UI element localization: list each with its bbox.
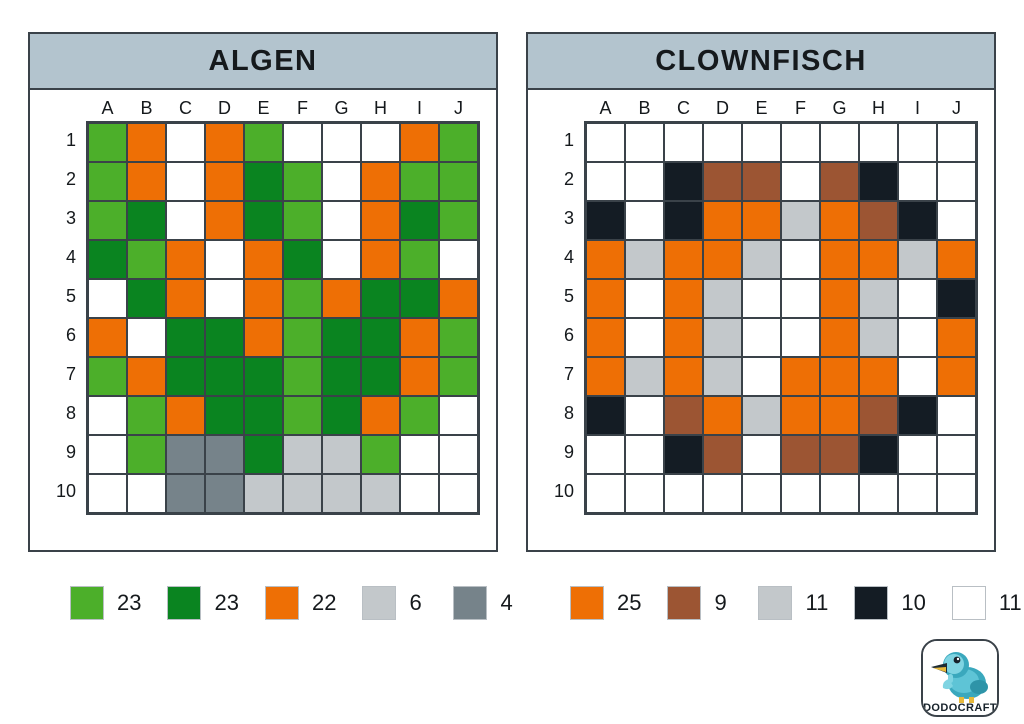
- grid-cell[interactable]: [400, 201, 439, 240]
- grid-cell[interactable]: [781, 162, 820, 201]
- legend-count: 22: [312, 590, 336, 616]
- grid-cell[interactable]: [127, 396, 166, 435]
- grid-cell[interactable]: [859, 435, 898, 474]
- svg-text:DODOCRAFT: DODOCRAFT: [923, 702, 997, 714]
- pixel-grid-clownfisch[interactable]: [584, 121, 978, 515]
- grid-cell[interactable]: [88, 474, 127, 513]
- grid-cell[interactable]: [166, 201, 205, 240]
- grid-cell[interactable]: [322, 162, 361, 201]
- grid-cell[interactable]: [127, 162, 166, 201]
- grid-cell[interactable]: [244, 201, 283, 240]
- dodocraft-logo: DODOCRAFT: [921, 639, 999, 717]
- grid-cell[interactable]: [322, 201, 361, 240]
- grid-body-algen: 12345678910: [46, 121, 480, 515]
- grid-cell[interactable]: [400, 396, 439, 435]
- legend-item: 25: [570, 586, 641, 620]
- grid-cell[interactable]: [742, 474, 781, 513]
- grid-cell[interactable]: [586, 162, 625, 201]
- column-header-c: C: [166, 98, 205, 119]
- grid-cell[interactable]: [205, 279, 244, 318]
- grid-cell[interactable]: [361, 162, 400, 201]
- grid-cell[interactable]: [322, 123, 361, 162]
- grid-cell[interactable]: [859, 318, 898, 357]
- legend-swatch-light-green: [70, 586, 104, 620]
- legend-item: 23: [167, 586, 238, 620]
- row-labels-algen: 12345678910: [46, 121, 86, 515]
- grid-cell[interactable]: [664, 201, 703, 240]
- grid-cell[interactable]: [127, 435, 166, 474]
- grid-cell[interactable]: [283, 318, 322, 357]
- grid-cell[interactable]: [664, 474, 703, 513]
- grid-cell[interactable]: [166, 396, 205, 435]
- grid-cell[interactable]: [205, 318, 244, 357]
- grid-cell[interactable]: [937, 357, 976, 396]
- grid-cell[interactable]: [166, 357, 205, 396]
- grid-cell[interactable]: [205, 162, 244, 201]
- grid-cell[interactable]: [361, 201, 400, 240]
- grid-cell[interactable]: [703, 279, 742, 318]
- grid-cell[interactable]: [937, 123, 976, 162]
- legend-count: 11: [999, 590, 1022, 616]
- grid-cell[interactable]: [244, 162, 283, 201]
- grid-cell[interactable]: [859, 123, 898, 162]
- grid-cell[interactable]: [586, 318, 625, 357]
- grid-cell[interactable]: [742, 162, 781, 201]
- legend-count: 23: [117, 590, 141, 616]
- grid-cell[interactable]: [664, 123, 703, 162]
- legend-item: 4: [453, 586, 518, 620]
- column-header-a: A: [88, 98, 127, 119]
- grid-cell[interactable]: [361, 318, 400, 357]
- grid-cell[interactable]: [859, 474, 898, 513]
- grid-cell[interactable]: [322, 318, 361, 357]
- grid-cell[interactable]: [898, 162, 937, 201]
- grid-cell[interactable]: [859, 357, 898, 396]
- grid-cell[interactable]: [244, 357, 283, 396]
- grid-cell[interactable]: [205, 435, 244, 474]
- grid-cell[interactable]: [205, 474, 244, 513]
- grid-cell[interactable]: [781, 201, 820, 240]
- grid-cell[interactable]: [439, 474, 478, 513]
- grid-cell[interactable]: [127, 318, 166, 357]
- legend-count: 4: [500, 590, 518, 616]
- grid-cell[interactable]: [703, 474, 742, 513]
- grid-cell[interactable]: [244, 318, 283, 357]
- grid-cell[interactable]: [703, 123, 742, 162]
- grid-cell[interactable]: [88, 357, 127, 396]
- grid-cell[interactable]: [127, 240, 166, 279]
- grid-cell[interactable]: [586, 279, 625, 318]
- column-header-i: I: [400, 98, 439, 119]
- grid-cell[interactable]: [127, 474, 166, 513]
- grid-cell[interactable]: [244, 240, 283, 279]
- legend-swatch-brown: [667, 586, 701, 620]
- column-header-c: C: [664, 98, 703, 119]
- grid-cell[interactable]: [88, 435, 127, 474]
- grid-area-clownfisch: ABCDEFGHIJ 12345678910: [528, 90, 994, 515]
- row-label-1: 1: [46, 121, 86, 160]
- grid-cell[interactable]: [625, 279, 664, 318]
- grid-cell[interactable]: [625, 357, 664, 396]
- grid-body-clownfisch: 12345678910: [544, 121, 978, 515]
- grid-cell[interactable]: [625, 201, 664, 240]
- grid-cell[interactable]: [781, 435, 820, 474]
- grid-cell[interactable]: [439, 123, 478, 162]
- row-label-2: 2: [46, 160, 86, 199]
- grid-cell[interactable]: [322, 474, 361, 513]
- grid-cell[interactable]: [742, 396, 781, 435]
- grid-cell[interactable]: [937, 162, 976, 201]
- row-label-10: 10: [46, 472, 86, 511]
- row-label-6: 6: [46, 316, 86, 355]
- grid-cell[interactable]: [586, 435, 625, 474]
- grid-cell[interactable]: [664, 396, 703, 435]
- grid-cell[interactable]: [898, 201, 937, 240]
- grid-cell[interactable]: [166, 240, 205, 279]
- legend-swatch-light-gray: [758, 586, 792, 620]
- grid-cell[interactable]: [664, 435, 703, 474]
- legend-swatch-white: [952, 586, 986, 620]
- grid-cell[interactable]: [586, 474, 625, 513]
- grid-cell[interactable]: [859, 162, 898, 201]
- grid-cell[interactable]: [400, 123, 439, 162]
- grid-cell[interactable]: [742, 123, 781, 162]
- panel-title-algen: ALGEN: [209, 45, 318, 78]
- grid-cell[interactable]: [361, 357, 400, 396]
- row-label-10: 10: [544, 472, 584, 511]
- legend-swatch-light-gray: [362, 586, 396, 620]
- column-header-j: J: [937, 98, 976, 119]
- grid-cell[interactable]: [439, 435, 478, 474]
- grid-cell[interactable]: [820, 279, 859, 318]
- grid-cell[interactable]: [166, 279, 205, 318]
- legend-item: 6: [362, 586, 427, 620]
- grid-cell[interactable]: [361, 123, 400, 162]
- grid-cell[interactable]: [703, 435, 742, 474]
- grid-cell[interactable]: [664, 318, 703, 357]
- row-label-1: 1: [544, 121, 584, 160]
- column-header-e: E: [742, 98, 781, 119]
- grid-cell[interactable]: [283, 201, 322, 240]
- panel-clownfisch: CLOWNFISCH ABCDEFGHIJ 12345678910: [526, 32, 996, 552]
- grid-cell[interactable]: [625, 435, 664, 474]
- grid-cell[interactable]: [586, 123, 625, 162]
- legend-count: 25: [617, 590, 641, 616]
- grid-cell[interactable]: [361, 435, 400, 474]
- row-label-4: 4: [544, 238, 584, 277]
- panel-title-clownfisch: CLOWNFISCH: [655, 45, 867, 78]
- grid-cell[interactable]: [625, 240, 664, 279]
- grid-cell[interactable]: [937, 240, 976, 279]
- column-header-a: A: [586, 98, 625, 119]
- grid-cell[interactable]: [820, 357, 859, 396]
- row-label-3: 3: [46, 199, 86, 238]
- legend-item: 22: [265, 586, 336, 620]
- grid-cell[interactable]: [586, 357, 625, 396]
- grid-cell[interactable]: [742, 357, 781, 396]
- grid-cell[interactable]: [244, 123, 283, 162]
- grid-cell[interactable]: [625, 123, 664, 162]
- column-header-e: E: [244, 98, 283, 119]
- row-label-9: 9: [544, 433, 584, 472]
- grid-cell[interactable]: [820, 318, 859, 357]
- grid-cell[interactable]: [439, 240, 478, 279]
- row-labels-clownfisch: 12345678910: [544, 121, 584, 515]
- grid-cell[interactable]: [820, 435, 859, 474]
- grid-cell[interactable]: [586, 396, 625, 435]
- column-header-j: J: [439, 98, 478, 119]
- grid-cell[interactable]: [898, 240, 937, 279]
- dodo-bird-icon: DODOCRAFT: [923, 641, 997, 715]
- grid-cell[interactable]: [898, 318, 937, 357]
- grid-cell[interactable]: [88, 396, 127, 435]
- grid-cell[interactable]: [664, 240, 703, 279]
- column-header-g: G: [322, 98, 361, 119]
- legend-swatch-orange: [570, 586, 604, 620]
- legend-swatch-dark-gray: [453, 586, 487, 620]
- grid-cell[interactable]: [703, 201, 742, 240]
- grid-cell[interactable]: [400, 435, 439, 474]
- column-header-f: F: [283, 98, 322, 119]
- row-label-8: 8: [46, 394, 86, 433]
- grid-cell[interactable]: [664, 162, 703, 201]
- column-header-b: B: [127, 98, 166, 119]
- panel-header-algen: ALGEN: [30, 34, 496, 90]
- row-label-2: 2: [544, 160, 584, 199]
- row-label-3: 3: [544, 199, 584, 238]
- column-header-b: B: [625, 98, 664, 119]
- grid-cell[interactable]: [742, 240, 781, 279]
- grid-cell[interactable]: [898, 474, 937, 513]
- row-label-9: 9: [46, 433, 86, 472]
- column-header-h: H: [361, 98, 400, 119]
- row-label-4: 4: [46, 238, 86, 277]
- grid-cell[interactable]: [859, 396, 898, 435]
- grid-cell[interactable]: [781, 123, 820, 162]
- legend-count: 6: [409, 590, 427, 616]
- grid-cell[interactable]: [742, 279, 781, 318]
- grid-cell[interactable]: [439, 201, 478, 240]
- grid-cell[interactable]: [898, 279, 937, 318]
- column-header-h: H: [859, 98, 898, 119]
- grid-cell[interactable]: [859, 201, 898, 240]
- grid-cell[interactable]: [781, 474, 820, 513]
- grid-cell[interactable]: [166, 474, 205, 513]
- grid-cell[interactable]: [937, 474, 976, 513]
- grid-cell[interactable]: [283, 123, 322, 162]
- grid-cell[interactable]: [205, 123, 244, 162]
- grid-cell[interactable]: [937, 318, 976, 357]
- grid-cell[interactable]: [439, 162, 478, 201]
- pixel-grid-algen[interactable]: [86, 121, 480, 515]
- grid-cell[interactable]: [283, 435, 322, 474]
- puzzle-page: ALGEN ABCDEFGHIJ 12345678910 CLOWNFISCH …: [0, 0, 1024, 724]
- grid-cell[interactable]: [439, 396, 478, 435]
- grid-cell[interactable]: [820, 123, 859, 162]
- grid-cell[interactable]: [322, 396, 361, 435]
- grid-cell[interactable]: [586, 240, 625, 279]
- grid-cell[interactable]: [400, 357, 439, 396]
- grid-cell[interactable]: [937, 201, 976, 240]
- grid-cell[interactable]: [88, 279, 127, 318]
- grid-cell[interactable]: [205, 240, 244, 279]
- grid-cell[interactable]: [859, 279, 898, 318]
- grid-cell[interactable]: [244, 279, 283, 318]
- grid-cell[interactable]: [244, 435, 283, 474]
- grid-cell[interactable]: [820, 474, 859, 513]
- grid-cell[interactable]: [166, 435, 205, 474]
- legend-count: 9: [714, 590, 732, 616]
- grid-cell[interactable]: [127, 279, 166, 318]
- grid-cell[interactable]: [127, 201, 166, 240]
- grid-cell[interactable]: [703, 396, 742, 435]
- grid-cell[interactable]: [439, 318, 478, 357]
- grid-cell[interactable]: [322, 357, 361, 396]
- grid-cell[interactable]: [400, 279, 439, 318]
- grid-cell[interactable]: [781, 240, 820, 279]
- column-header-d: D: [703, 98, 742, 119]
- grid-cell[interactable]: [781, 357, 820, 396]
- grid-cell[interactable]: [166, 162, 205, 201]
- grid-cell[interactable]: [586, 201, 625, 240]
- grid-cell[interactable]: [361, 279, 400, 318]
- grid-cell[interactable]: [781, 318, 820, 357]
- grid-cell[interactable]: [742, 201, 781, 240]
- grid-cell[interactable]: [166, 318, 205, 357]
- legend-item: 11: [758, 586, 828, 620]
- panel-algen: ALGEN ABCDEFGHIJ 12345678910: [28, 32, 498, 552]
- legend-item: 11: [952, 586, 1022, 620]
- row-label-7: 7: [46, 355, 86, 394]
- grid-cell[interactable]: [625, 162, 664, 201]
- grid-cell[interactable]: [820, 162, 859, 201]
- legend-swatch-orange: [265, 586, 299, 620]
- grid-cell[interactable]: [664, 357, 703, 396]
- grid-cell[interactable]: [742, 435, 781, 474]
- legend-count: 23: [214, 590, 238, 616]
- grid-cell[interactable]: [283, 240, 322, 279]
- grid-cell[interactable]: [205, 201, 244, 240]
- grid-cell[interactable]: [625, 318, 664, 357]
- grid-cell[interactable]: [283, 279, 322, 318]
- legend-clownfisch: 259111011: [570, 585, 1024, 621]
- grid-cell[interactable]: [88, 318, 127, 357]
- grid-cell[interactable]: [898, 396, 937, 435]
- grid-cell[interactable]: [781, 279, 820, 318]
- grid-cell[interactable]: [625, 474, 664, 513]
- legend-algen: 23232264: [70, 585, 544, 621]
- grid-cell[interactable]: [400, 474, 439, 513]
- grid-cell[interactable]: [283, 162, 322, 201]
- grid-cell[interactable]: [937, 279, 976, 318]
- grid-cell[interactable]: [937, 435, 976, 474]
- legend-item: 23: [70, 586, 141, 620]
- grid-cell[interactable]: [361, 474, 400, 513]
- grid-cell[interactable]: [88, 240, 127, 279]
- grid-cell[interactable]: [166, 123, 205, 162]
- grid-cell[interactable]: [742, 318, 781, 357]
- grid-cell[interactable]: [400, 162, 439, 201]
- grid-cell[interactable]: [400, 318, 439, 357]
- grid-cell[interactable]: [703, 318, 742, 357]
- grid-cell[interactable]: [781, 396, 820, 435]
- column-headers-clownfisch: ABCDEFGHIJ: [586, 98, 976, 119]
- grid-cell[interactable]: [88, 123, 127, 162]
- grid-cell[interactable]: [283, 357, 322, 396]
- legend-swatch-dark-green: [167, 586, 201, 620]
- grid-cell[interactable]: [361, 240, 400, 279]
- grid-cell[interactable]: [898, 357, 937, 396]
- row-label-6: 6: [544, 316, 584, 355]
- column-header-g: G: [820, 98, 859, 119]
- legend-swatch-navy: [854, 586, 888, 620]
- grid-cell[interactable]: [820, 396, 859, 435]
- grid-cell[interactable]: [283, 396, 322, 435]
- grid-cell[interactable]: [283, 474, 322, 513]
- grid-cell[interactable]: [127, 123, 166, 162]
- grid-cell[interactable]: [625, 396, 664, 435]
- column-headers-algen: ABCDEFGHIJ: [88, 98, 478, 119]
- legend-count: 10: [901, 590, 925, 616]
- grid-cell[interactable]: [322, 279, 361, 318]
- grid-cell[interactable]: [820, 240, 859, 279]
- grid-cell[interactable]: [127, 357, 166, 396]
- grid-cell[interactable]: [898, 435, 937, 474]
- row-label-5: 5: [544, 277, 584, 316]
- grid-cell[interactable]: [703, 240, 742, 279]
- column-header-d: D: [205, 98, 244, 119]
- grid-area-algen: ABCDEFGHIJ 12345678910: [30, 90, 496, 515]
- grid-cell[interactable]: [244, 474, 283, 513]
- grid-cell[interactable]: [439, 357, 478, 396]
- grid-cell[interactable]: [361, 396, 400, 435]
- grid-cell[interactable]: [937, 396, 976, 435]
- grid-cell[interactable]: [205, 396, 244, 435]
- legend-count: 11: [805, 590, 828, 616]
- grid-cell[interactable]: [88, 162, 127, 201]
- grid-cell[interactable]: [820, 201, 859, 240]
- legend-item: 9: [667, 586, 732, 620]
- grid-cell[interactable]: [400, 240, 439, 279]
- row-label-5: 5: [46, 277, 86, 316]
- grid-cell[interactable]: [322, 435, 361, 474]
- grid-cell[interactable]: [664, 279, 703, 318]
- grid-cell[interactable]: [703, 162, 742, 201]
- column-header-f: F: [781, 98, 820, 119]
- legend-item: 10: [854, 586, 925, 620]
- row-label-7: 7: [544, 355, 584, 394]
- grid-cell[interactable]: [859, 240, 898, 279]
- grid-cell[interactable]: [703, 357, 742, 396]
- grid-cell[interactable]: [439, 279, 478, 318]
- grid-cell[interactable]: [244, 396, 283, 435]
- grid-cell[interactable]: [88, 201, 127, 240]
- grid-cell[interactable]: [322, 240, 361, 279]
- panel-header-clownfisch: CLOWNFISCH: [528, 34, 994, 90]
- column-header-i: I: [898, 98, 937, 119]
- row-label-8: 8: [544, 394, 584, 433]
- grid-cell[interactable]: [898, 123, 937, 162]
- grid-cell[interactable]: [205, 357, 244, 396]
